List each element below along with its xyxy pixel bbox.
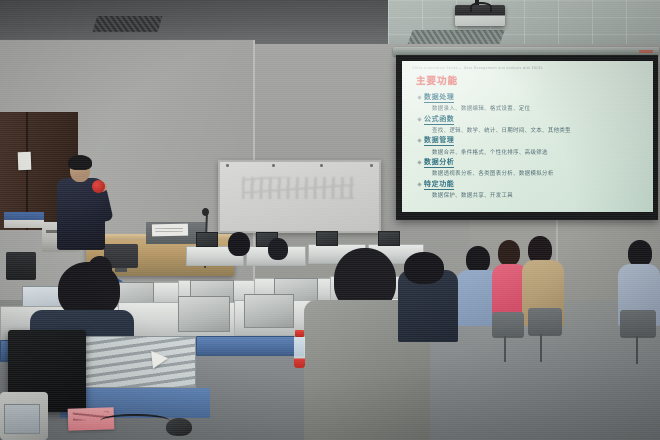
chair-leg xyxy=(504,336,506,362)
slide-bullet-5-detail: 数据保护、数据共享、开发工具 xyxy=(432,191,645,199)
slide-bullet-3: 数据管理 数据合并、条件格式、个性化排序、高级筛选 xyxy=(418,135,645,155)
slide-title: 主要功能 xyxy=(416,73,645,87)
attendee-head xyxy=(268,238,288,260)
bullet-marker-icon xyxy=(417,160,421,164)
whiteboard-clip-icon xyxy=(226,164,229,167)
paper-plane-icon xyxy=(151,349,169,369)
whiteboard-clip-icon xyxy=(320,164,323,167)
bullet-marker-icon xyxy=(417,117,421,121)
slide-bullet-5: 特定功能 数据保护、数据共享、开发工具 xyxy=(418,179,645,199)
desktop-monitor xyxy=(244,294,294,328)
foreground-monitor-screen xyxy=(4,404,40,434)
bullet-marker-icon xyxy=(417,95,421,99)
desktop-monitor xyxy=(178,296,230,332)
mouse-cable xyxy=(100,414,170,428)
slide-bullet-2-heading-row: 公式函数 xyxy=(418,114,645,125)
whiteboard-clip-icon xyxy=(272,164,275,167)
whiteboard xyxy=(218,160,381,233)
chair xyxy=(620,310,656,338)
classroom-photo: Office Automation Series — Data Manageme… xyxy=(0,0,660,440)
slide-bullet-1-heading: 数据处理 xyxy=(424,92,454,103)
slide-bullet-1: 数据处理 数据录入、数据编辑、格式设置、定位 xyxy=(418,92,645,112)
ceiling-vent-icon xyxy=(93,16,163,32)
bottle-cap-icon xyxy=(295,330,304,337)
chair-leg xyxy=(540,334,542,362)
whiteboard-erased-writing xyxy=(242,177,353,199)
slide-bullet-4-heading-row: 数据分析 xyxy=(418,157,645,168)
water-bottle-icon xyxy=(294,336,305,368)
chair xyxy=(492,312,524,338)
attendee-head xyxy=(228,232,250,256)
slide-bullet-2-heading: 公式函数 xyxy=(424,114,454,125)
slide-header-text: Office Automation Series — Data Manageme… xyxy=(412,66,645,70)
slide-content: Office Automation Series — Data Manageme… xyxy=(402,61,653,212)
slide-bullet-4: 数据分析 数据透视表分析、各类图表分析、数据模拟分析 xyxy=(418,157,645,177)
chair-leg xyxy=(636,336,638,364)
bullet-marker-icon xyxy=(417,139,421,143)
projector-cable xyxy=(470,2,492,12)
attendee-head xyxy=(466,246,490,273)
attendee-head xyxy=(404,252,444,284)
attendee-head xyxy=(628,240,652,267)
presenter-hair xyxy=(68,155,92,170)
chair xyxy=(528,308,562,336)
computer-mouse-icon xyxy=(166,418,192,436)
bullet-marker-icon xyxy=(417,182,421,186)
projection-screen: Office Automation Series — Data Manageme… xyxy=(396,55,658,220)
slide-bullet-5-heading-row: 特定功能 xyxy=(418,179,645,190)
presenter-held-object xyxy=(92,180,105,193)
wall-notice-sheet xyxy=(18,152,32,170)
lab-speaker xyxy=(6,252,36,280)
whiteboard-clip-icon xyxy=(370,164,373,167)
microphone-icon xyxy=(202,208,209,216)
ceiling-vent-right-icon xyxy=(407,30,504,45)
slide-bullet-4-detail: 数据透视表分析、各类图表分析、数据模拟分析 xyxy=(432,169,645,177)
slide-bullet-3-detail: 数据合并、条件格式、个性化排序、高级筛选 xyxy=(432,148,645,156)
desktop-monitor xyxy=(316,231,338,246)
attendee-head xyxy=(498,240,520,266)
slide-bullet-1-heading-row: 数据处理 xyxy=(418,92,645,103)
slide-bullet-2-detail: 查找、逻辑、数学、统计、日期时间、文本、其他类型 xyxy=(432,126,645,134)
desktop-monitor xyxy=(196,232,218,247)
slide-bullet-3-heading-row: 数据管理 xyxy=(418,135,645,146)
podium-paper xyxy=(152,224,188,237)
desk-vent-panel xyxy=(68,336,196,388)
slide-bullet-3-heading: 数据管理 xyxy=(424,135,454,146)
stacked-folders xyxy=(4,212,44,228)
slide-bullet-2: 公式函数 查找、逻辑、数学、统计、日期时间、文本、其他类型 xyxy=(418,114,645,134)
slide-bullet-1-detail: 数据录入、数据编辑、格式设置、定位 xyxy=(432,104,645,112)
slide-bullet-4-heading: 数据分析 xyxy=(424,157,454,168)
slide-bullet-5-heading: 特定功能 xyxy=(424,179,454,190)
desktop-monitor xyxy=(378,231,400,246)
projection-screen-surface: Office Automation Series — Data Manageme… xyxy=(402,61,653,212)
